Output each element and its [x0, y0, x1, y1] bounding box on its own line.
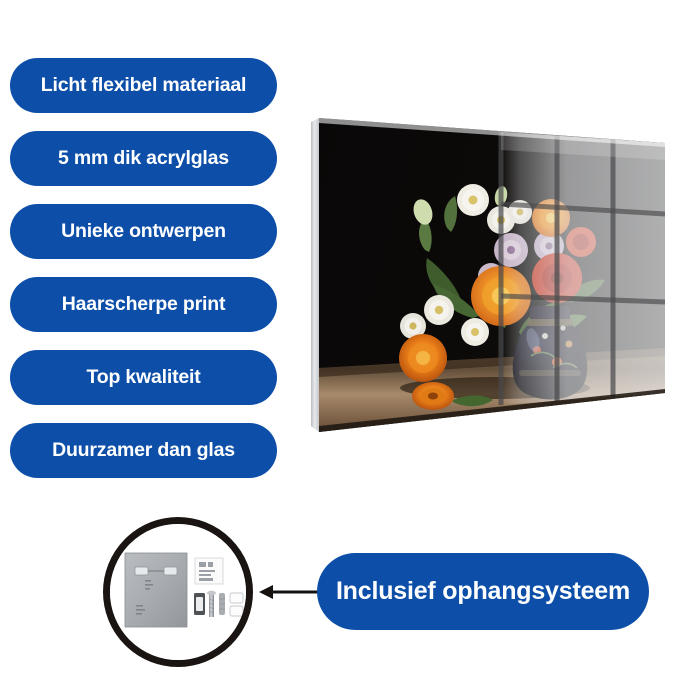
window-reflection: [501, 132, 665, 405]
feature-badge[interactable]: Haarscherpe print: [10, 277, 277, 332]
feature-badge-label: Top kwaliteit: [86, 368, 200, 388]
mounting-plate: [125, 553, 187, 627]
hanging-system-badge-label: Inclusief ophangsysteem: [336, 579, 630, 604]
product-feature-graphic: Licht flexibel materiaal 5 mm dik acrylg…: [0, 0, 700, 700]
feature-badge-label: Haarscherpe print: [62, 295, 226, 315]
hanging-system-badge[interactable]: Inclusief ophangsysteem: [317, 553, 649, 630]
feature-badge-label: 5 mm dik acrylglas: [58, 149, 229, 169]
wall-plug: [219, 593, 225, 615]
acrylic-panel-render: [305, 100, 685, 445]
hanging-kit-photo: [103, 517, 253, 667]
instruction-sheet: [195, 558, 223, 584]
feature-badge-label: Licht flexibel materiaal: [41, 76, 246, 96]
panel-thickness-edge: [311, 118, 319, 432]
feature-badge-label: Unieke ontwerpen: [61, 222, 226, 242]
hanging-kit-circle[interactable]: [103, 517, 253, 667]
fallen-marigold: [412, 382, 454, 410]
feature-badge-list: Licht flexibel materiaal 5 mm dik acrylg…: [10, 58, 277, 496]
feature-badge[interactable]: 5 mm dik acrylglas: [10, 131, 277, 186]
feature-badge[interactable]: Top kwaliteit: [10, 350, 277, 405]
feature-badge[interactable]: Duurzamer dan glas: [10, 423, 277, 478]
product-panel[interactable]: [305, 100, 685, 445]
feature-badge-label: Duurzamer dan glas: [52, 441, 235, 461]
feature-badge[interactable]: Licht flexibel materiaal: [10, 58, 277, 113]
feature-badge[interactable]: Unieke ontwerpen: [10, 204, 277, 259]
